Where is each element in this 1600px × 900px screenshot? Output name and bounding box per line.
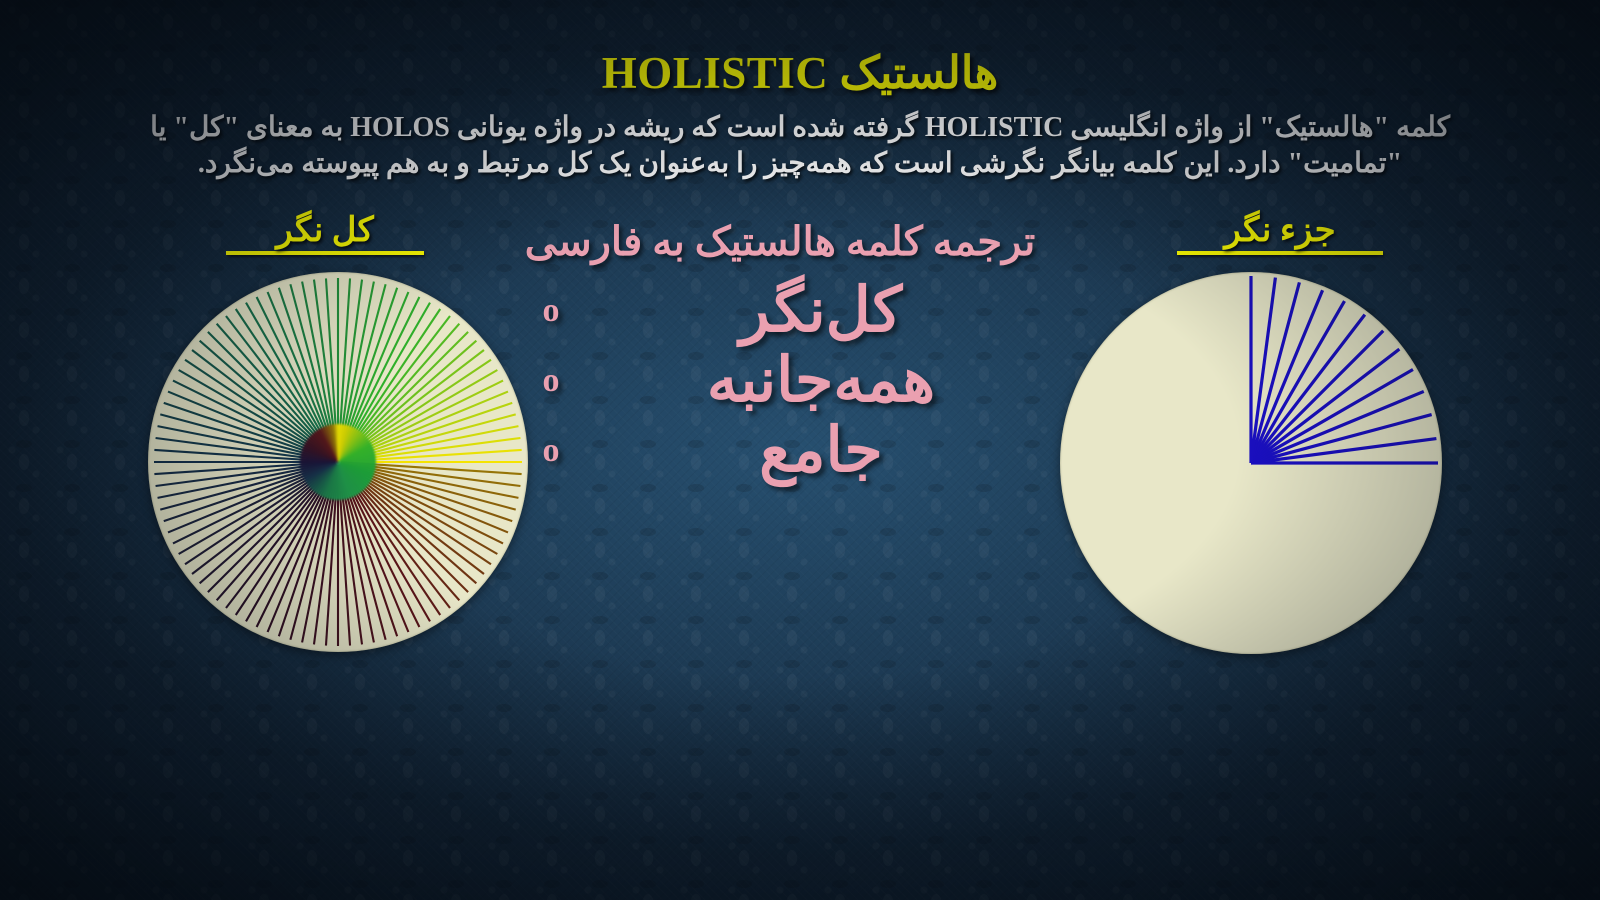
list-item: جامع o bbox=[520, 420, 1060, 482]
list-item-label: جامع bbox=[582, 420, 1060, 482]
reductionist-rays-svg bbox=[1060, 272, 1442, 654]
bullet-marker-icon: o bbox=[520, 294, 582, 328]
list-item: همه‌جانبه o bbox=[520, 350, 1060, 412]
page-title: هالستیک HOLISTIC bbox=[0, 50, 1600, 97]
reductionist-label-text: جزء نگر bbox=[1224, 212, 1335, 249]
reductionist-diagram-label: جزء نگر bbox=[1160, 210, 1400, 255]
translation-heading: ترجمه کلمه هالستیک به فارسی bbox=[440, 218, 1120, 265]
holistic-diagram-label: کل نگر bbox=[210, 210, 440, 255]
reductionist-label-underline bbox=[1177, 251, 1383, 255]
holistic-radial-diagram bbox=[148, 272, 528, 652]
slide-canvas: هالستیک HOLISTIC کلمه "هالستیک" از واژه … bbox=[0, 0, 1600, 900]
list-item-label: کل‌نگر bbox=[582, 280, 1060, 342]
bullet-marker-icon: o bbox=[520, 364, 582, 398]
intro-paragraph: کلمه "هالستیک" از واژه انگلیسی HOLISTIC … bbox=[150, 110, 1450, 182]
list-item-label: همه‌جانبه bbox=[582, 350, 1060, 412]
holistic-label-underline bbox=[226, 251, 424, 255]
reductionist-radial-diagram bbox=[1060, 272, 1442, 654]
translation-list: کل‌نگر o همه‌جانبه o جامع o bbox=[520, 280, 1060, 490]
list-item: کل‌نگر o bbox=[520, 280, 1060, 342]
holistic-core-gradient bbox=[300, 424, 376, 500]
holistic-label-text: کل نگر bbox=[276, 212, 373, 249]
bullet-marker-icon: o bbox=[520, 434, 582, 468]
